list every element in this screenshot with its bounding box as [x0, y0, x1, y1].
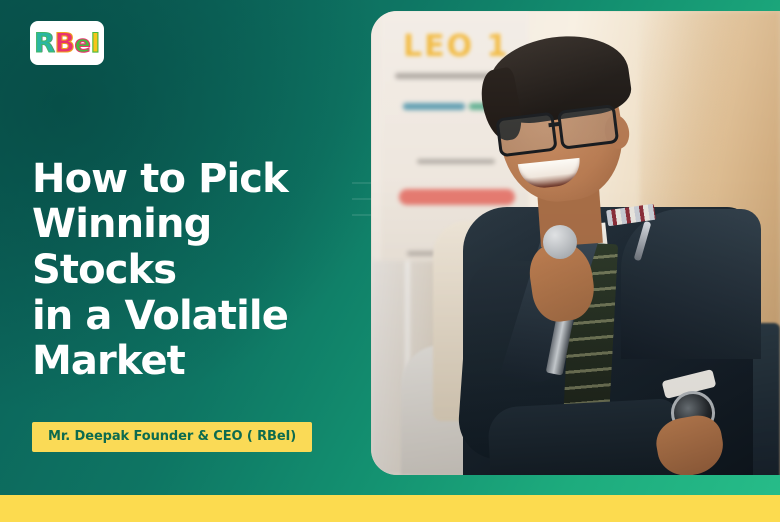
logo-letter-b: B — [54, 30, 74, 57]
logo-letter-e: e — [75, 32, 91, 56]
photo-content: LEO 1 — [371, 11, 780, 475]
webinar-poster: R B e I How to Pick Winning Stocks in a … — [0, 0, 780, 522]
page-title: How to Pick Winning Stocks in a Volatile… — [32, 157, 362, 385]
speaker-photo: LEO 1 — [371, 11, 780, 475]
logo-wordmark: R B e I — [34, 30, 100, 57]
logo-letter-r: R — [34, 30, 54, 57]
speaker-credit-banner: Mr. Deepak Founder & CEO ( RBeI) — [32, 422, 312, 452]
bottom-accent-strip — [0, 495, 780, 522]
photo-color-grade — [371, 11, 780, 475]
brand-logo[interactable]: R B e I — [30, 21, 104, 65]
logo-letter-i: I — [90, 30, 100, 57]
